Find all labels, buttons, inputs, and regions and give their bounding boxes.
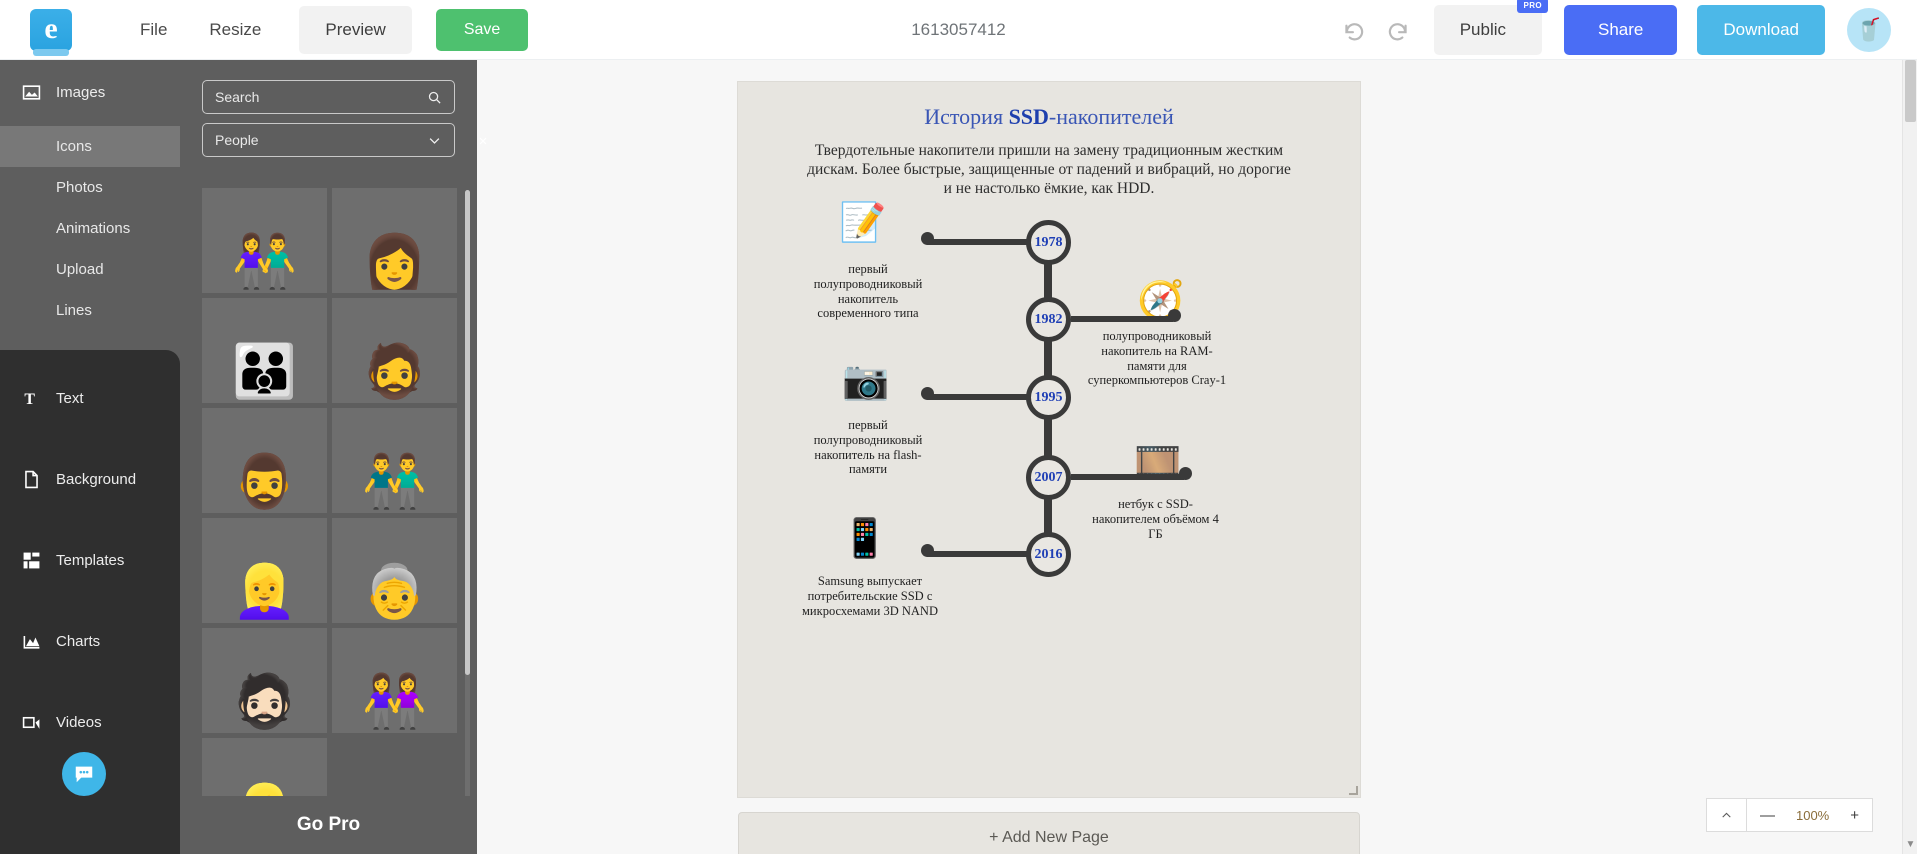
node-year: 1978 [1035,235,1063,251]
svg-text:T: T [24,391,35,408]
canvas-workspace: История SSD-накопителей Твердотельные на… [477,60,1917,854]
connector-dot-1978 [921,232,934,245]
chat-button[interactable] [62,752,106,796]
visibility-button[interactable]: Public PRO [1434,5,1542,55]
icon-thumb-5[interactable]: 👬 [332,408,457,513]
connector-1982 [1071,316,1173,322]
undo-button[interactable] [1332,8,1376,52]
sidebar-item-lines[interactable]: Lines [0,290,180,331]
icon-thumb-8[interactable]: 🧔🏻 [202,628,327,733]
icon-thumb-glyph: 👪 [232,343,297,403]
sidebar-item-upload[interactable]: Upload [0,249,180,290]
icon-thumb-glyph: 👬 [362,453,427,513]
icon-thumb-2[interactable]: 👪 [202,298,327,403]
sidebar-item-templates[interactable]: Templates [0,538,180,582]
left-rail-lower: T Text Background Templates Ch [0,350,180,854]
sidebar-label-photos: Photos [56,179,103,196]
left-rail: Images Icons Photos Animations Upload Li… [0,60,180,854]
canvas-page[interactable]: История SSD-накопителей Твердотельные на… [738,82,1360,797]
instant-camera-icon: 📷 [842,362,889,400]
sidebar-label-icons: Icons [56,138,92,155]
sidebar-label-text: Text [56,390,84,407]
icon-thumb-glyph: 👭 [362,673,427,733]
share-button[interactable]: Share [1564,5,1677,55]
icon-thumb-glyph: 👫 [232,233,297,293]
node-year: 1995 [1035,390,1063,406]
connector-dot-1995 [921,387,934,400]
zoom-level: 100% [1788,798,1837,832]
sidebar-label-animations: Animations [56,220,130,237]
zoom-in-button[interactable]: + [1837,798,1872,832]
sidebar-item-animations[interactable]: Animations [0,208,180,249]
timeline-node-2007[interactable]: 2007 [1026,455,1071,500]
icon-thumb-6[interactable]: 👱‍♀️ [202,518,327,623]
chevron-down-icon [427,133,442,148]
icon-thumb-glyph: 🧔🏻 [232,673,297,733]
connector-dot-2007 [1179,467,1192,480]
asset-panel: Search People 👫 👩 👪 🧔 🧔‍♂️ 👬 👱‍♀️ 👵 🧔🏻 👭… [180,60,477,854]
pro-badge: PRO [1517,0,1548,13]
connector-1978 [927,239,1027,245]
text-icon: T [22,389,52,408]
connector-2016 [927,551,1027,557]
icon-thumb-4[interactable]: 🧔‍♂️ [202,408,327,513]
sidebar-item-icons[interactable]: Icons [0,126,180,167]
app-logo[interactable]: e [30,9,72,51]
icon-thumb-glyph: 🧔 [362,343,427,403]
save-button[interactable]: Save [436,9,528,51]
templates-icon [22,551,52,570]
page-resize-handle[interactable] [1349,786,1358,795]
timeline-node-1982[interactable]: 1982 [1026,297,1071,342]
category-value: People [215,132,259,148]
sidebar-item-charts[interactable]: Charts [0,619,180,663]
panel-scrollbar[interactable] [465,190,470,800]
background-icon [22,470,52,489]
zoom-collapse-button[interactable] [1707,798,1747,832]
timeline-text-2016[interactable]: Samsung выпускает потребительские SSD с … [790,574,950,618]
timeline-node-2016[interactable]: 2016 [1026,532,1071,577]
icon-grid: 👫 👩 👪 🧔 🧔‍♂️ 👬 👱‍♀️ 👵 🧔🏻 👭 👱‍♀️ [202,188,457,798]
sidebar-label-videos: Videos [56,714,102,731]
sidebar-label-background: Background [56,471,136,488]
sidebar-subitems-images: Icons Photos Animations Upload Lines [0,126,180,331]
icon-thumb-glyph: 👵 [362,563,427,623]
connector-dot-1982 [1168,309,1181,322]
timeline-text-1978[interactable]: первый полупроводниковый накопитель совр… [800,262,936,321]
timeline-node-1995[interactable]: 1995 [1026,375,1071,420]
image-icon [22,83,52,102]
header-actions: Public PRO Share Download 🥤 [1332,5,1917,55]
connector-2007 [1071,474,1184,480]
window-scrollbar[interactable]: ▼ [1902,60,1917,854]
download-button[interactable]: Download [1697,5,1825,55]
timeline-text-1995[interactable]: первый полупроводниковый накопитель на f… [800,418,936,477]
category-select[interactable]: People [202,123,455,157]
timeline-node-1978[interactable]: 1978 [1026,220,1071,265]
icon-thumb-7[interactable]: 👵 [332,518,457,623]
charts-icon [22,632,52,651]
avatar[interactable]: 🥤 [1847,8,1891,52]
chevron-up-icon [1720,809,1733,822]
timeline: 1978 📝 первый полупроводниковый накопите… [738,82,1360,797]
redo-button[interactable] [1376,8,1420,52]
undo-icon [1341,17,1367,43]
smartphone-icon: 📱 [841,520,888,558]
close-icon[interactable]: × [472,130,494,152]
search-input-text: Search [215,89,259,105]
sidebar-item-background[interactable]: Background [0,457,180,501]
icon-thumb-0[interactable]: 👫 [202,188,327,293]
scroll-down-arrow[interactable]: ▼ [1903,839,1917,850]
sidebar-label-lines: Lines [56,302,92,319]
sidebar-item-videos[interactable]: Videos [0,700,180,744]
node-year: 1982 [1035,312,1063,328]
search-icon[interactable] [427,90,442,105]
sidebar-label-upload: Upload [56,261,104,278]
zoom-out-button[interactable]: — [1747,798,1788,832]
icon-thumb-glyph: 🧔‍♂️ [232,453,297,513]
add-new-page-button[interactable]: + Add New Page [738,812,1360,854]
node-year: 2007 [1035,470,1063,486]
icon-thumb-10[interactable]: 👱‍♀️ [202,738,327,798]
window-scroll-thumb[interactable] [1905,60,1916,122]
sidebar-item-photos[interactable]: Photos [0,167,180,208]
icon-thumb-9[interactable]: 👭 [332,628,457,733]
connector-1995 [927,394,1027,400]
redo-icon [1385,17,1411,43]
sidebar-item-text[interactable]: T Text [0,376,180,420]
connector-dot-2016 [921,544,934,557]
menu-resize[interactable]: Resize [193,10,277,50]
visibility-label: Public [1460,20,1506,39]
icon-thumb-glyph: 👱‍♀️ [232,563,297,623]
sidebar-label-images: Images [56,84,105,101]
sidebar-label-charts: Charts [56,633,100,650]
icon-thumb-3[interactable]: 🧔 [332,298,457,403]
notepad-pencil-icon: 📝 [839,204,886,242]
preview-button[interactable]: Preview [299,6,411,54]
timeline-text-1982[interactable]: полупроводниковый накопитель на RAM-памя… [1087,329,1227,388]
sidebar-label-templates: Templates [56,552,124,569]
app-root: e File Resize Preview Save 1613057412 Pu… [0,0,1917,854]
go-pro-button[interactable]: Go Pro [180,796,477,854]
node-year: 2016 [1035,547,1063,563]
timeline-text-2007[interactable]: нетбук с SSD-накопителем объёмом 4 ГБ [1088,497,1223,541]
menu-file[interactable]: File [124,10,183,50]
icon-thumb-glyph: 👩 [362,233,427,293]
videos-icon [22,713,52,732]
panel-scroll-thumb[interactable] [465,190,470,675]
top-header: e File Resize Preview Save 1613057412 Pu… [0,0,1917,60]
icon-thumb-1[interactable]: 👩 [332,188,457,293]
zoom-bar: — 100% + [1706,798,1873,832]
search-input[interactable]: Search [202,80,455,114]
chat-bubble-icon [73,763,95,785]
sidebar-item-images[interactable]: Images [0,70,180,114]
